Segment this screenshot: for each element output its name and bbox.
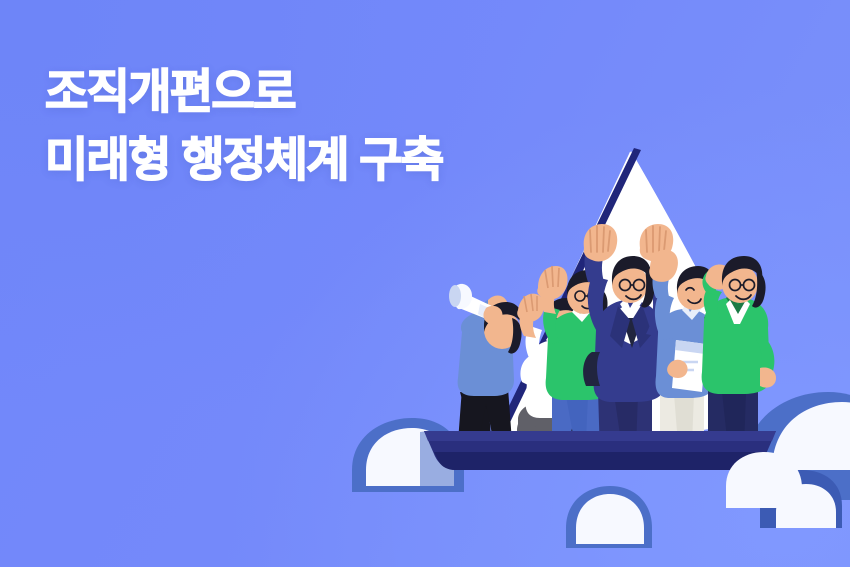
boat-hull [424, 431, 776, 470]
headline-line-1: 조직개편으로 [45, 58, 443, 126]
wave-foreground-center [566, 486, 652, 548]
promo-banner: 조직개편으로 미래형 행정체계 구축 [0, 0, 850, 567]
page-title: 조직개편으로 미래형 행정체계 구축 [45, 58, 443, 194]
headline-line-2: 미래형 행정체계 구축 [45, 126, 443, 194]
